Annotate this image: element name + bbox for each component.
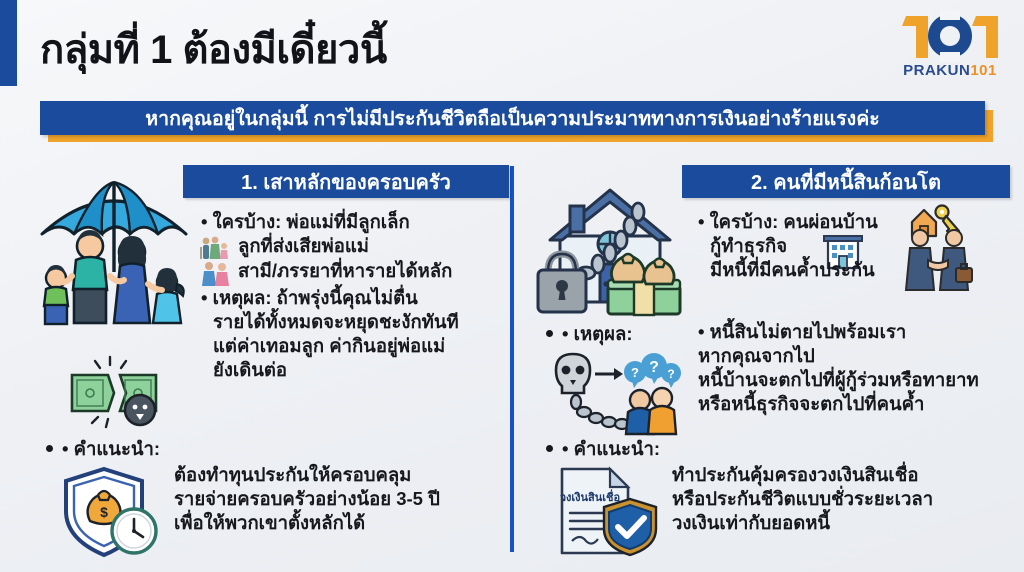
section-2-who-line-2: กู้ทำธุรกิจ bbox=[710, 234, 787, 257]
section-1-reason-line-2: รายได้ทั้งหมดจะหยุดชะงักทันที bbox=[213, 310, 459, 333]
infographic-page: กลุ่มที่ 1 ต้องมีเดี๋ยวนี้ PRAKUN101 หาก… bbox=[0, 0, 1024, 572]
family-under-umbrella-icon bbox=[34, 176, 194, 326]
handshake-icon bbox=[902, 228, 974, 292]
section-2-reason-line-1: • หนี้สินไม่ตายไปพร้อมเรา bbox=[698, 320, 906, 343]
top-left-accent-bar bbox=[0, 0, 17, 86]
document-credit-label: วงเงินสินเชื่อ bbox=[560, 489, 620, 504]
section-1-who-line-2: ลูกที่ส่งเสียพ่อแม่ bbox=[238, 234, 369, 257]
section-2-advice-line-1: ทำประกันคุ้มครองวงเงินสินเชื่อ bbox=[672, 463, 918, 486]
section-1-reason-line-4: ยังเดินต่อ bbox=[213, 358, 287, 381]
section-2-advice-bullet bbox=[546, 445, 553, 452]
section-2-reason-bullet bbox=[546, 330, 553, 337]
section-2-advice-line-2: หรือประกันชีวิตแบบชั่วระยะเวลา bbox=[672, 487, 933, 510]
section-2-heading: 2. คนที่มีหนี้สินก้อนโต bbox=[682, 165, 1010, 198]
svg-text:$: $ bbox=[100, 504, 108, 520]
section-2-who-line-3: มีหนี้ที่มีคนค้ำประกัน bbox=[710, 258, 875, 281]
page-title: กลุ่มที่ 1 ต้องมีเดี๋ยวนี้ bbox=[40, 17, 387, 81]
section-1-advice-label: • คำแนะนำ: bbox=[62, 437, 160, 460]
svg-text:?: ? bbox=[667, 367, 674, 381]
section-2-reason-line-4: หรือหนี้ธุรกิจจะตกไปที่คนค้ำ bbox=[698, 392, 924, 415]
column-divider bbox=[510, 166, 514, 552]
section-2-reason-line-3: หนี้บ้านจะตกไปที่ผู้กู้ร่วมหรือทายาท bbox=[698, 368, 979, 391]
house-chain-lock-money-icon bbox=[530, 176, 695, 326]
section-1-advice-line-1: ต้องทำทุนประกันให้ครอบคลุม bbox=[174, 463, 411, 486]
torn-money-skull-icon bbox=[64, 355, 164, 435]
credit-document-shield-icon: วงเงินสินเชื่อ bbox=[554, 465, 664, 557]
section-1-advice-line-3: เพื่อให้พวกเขาตั้งหลักได้ bbox=[174, 511, 365, 534]
section-1: 1. เสาหลักของครอบครัว bbox=[24, 160, 510, 560]
section-2: 2. คนที่มีหนี้สินก้อนโต bbox=[522, 160, 1022, 560]
section-1-advice-line-2: รายจ่ายครอบครัวอย่างน้อย 3-5 ปี bbox=[174, 487, 440, 510]
section-1-reason-line-1: • เหตุผล: ถ้าพรุ่งนี้คุณไม่ตื่น bbox=[201, 286, 418, 309]
logo-101-icon bbox=[894, 10, 1006, 62]
subtitle-banner: หากคุณอยู่ในกลุ่มนี้ การไม่มีประกันชีวิต… bbox=[40, 101, 985, 135]
section-1-who-line-1: • ใครบ้าง: พ่อแม่ที่มีลูกเล็ก bbox=[201, 210, 410, 233]
brand-logo: PRAKUN101 bbox=[894, 10, 1006, 88]
section-2-reason-line-2: หากคุณจากไป bbox=[698, 344, 815, 367]
logo-word-suffix: 101 bbox=[970, 62, 997, 79]
skull-chain-people-icon: ? ? ? bbox=[550, 352, 678, 438]
couple-figures-icon bbox=[200, 260, 230, 288]
svg-text:?: ? bbox=[649, 359, 659, 376]
subtitle-banner-text: หากคุณอยู่ในกลุ่มนี้ การไม่มีประกันชีวิต… bbox=[145, 103, 879, 134]
section-1-advice-bullet bbox=[46, 445, 53, 452]
section-1-who-line-3: สามี/ภรรยาที่หารายได้หลัก bbox=[238, 259, 452, 282]
section-1-heading: 1. เสาหลักของครอบครัว bbox=[183, 165, 509, 198]
section-2-advice-label: • คำแนะนำ: bbox=[562, 437, 660, 460]
svg-text:?: ? bbox=[631, 365, 639, 380]
section-2-who-line-1: • ใครบ้าง: คนผ่อนบ้าน bbox=[698, 210, 878, 233]
shield-moneybag-clock-icon: $ bbox=[60, 465, 170, 561]
section-2-reason-label: • เหตุผล: bbox=[562, 322, 633, 345]
logo-word: PRAKUN bbox=[903, 62, 970, 79]
section-1-reason-line-3: แต่ค่าเทอมลูก ค่ากินอยู่พ่อแม่ bbox=[213, 334, 445, 357]
family-figures-icon bbox=[200, 235, 230, 263]
logo-wordmark: PRAKUN101 bbox=[894, 63, 1006, 78]
section-2-advice-line-3: วงเงินเท่ากับยอดหนี้ bbox=[672, 511, 830, 534]
